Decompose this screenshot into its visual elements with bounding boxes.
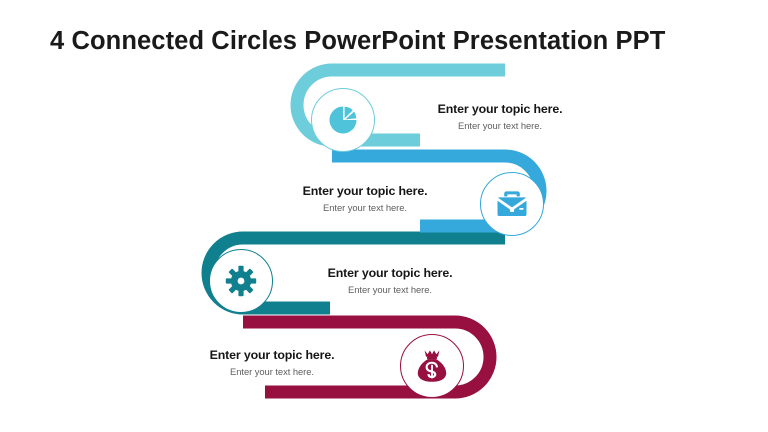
- step-3-topic: Enter your topic here.: [290, 266, 490, 281]
- step-3-text: Enter your text here.: [290, 283, 490, 296]
- step-1-text-block: Enter your topic here. Enter your text h…: [400, 102, 600, 132]
- step-4-topic: Enter your topic here.: [172, 348, 372, 363]
- process-node-1[interactable]: [312, 89, 375, 152]
- step-4-text-block: Enter your topic here. Enter your text h…: [172, 348, 372, 378]
- process-node-4[interactable]: [401, 335, 464, 398]
- serpentine-process-diagram: [0, 0, 768, 432]
- step-2-text-block: Enter your topic here. Enter your text h…: [265, 184, 465, 214]
- step-2-text: Enter your text here.: [265, 201, 465, 214]
- step-1-text: Enter your text here.: [400, 119, 600, 132]
- step-3-text-block: Enter your topic here. Enter your text h…: [290, 266, 490, 296]
- gear-icon: [226, 266, 256, 296]
- slide-canvas: 4 Connected Circles PowerPoint Presentat…: [0, 0, 768, 432]
- step-1-topic: Enter your topic here.: [400, 102, 600, 117]
- process-node-2[interactable]: [481, 173, 544, 236]
- process-node-3[interactable]: [210, 250, 273, 313]
- step-4-text: Enter your text here.: [172, 365, 372, 378]
- step-2-topic: Enter your topic here.: [265, 184, 465, 199]
